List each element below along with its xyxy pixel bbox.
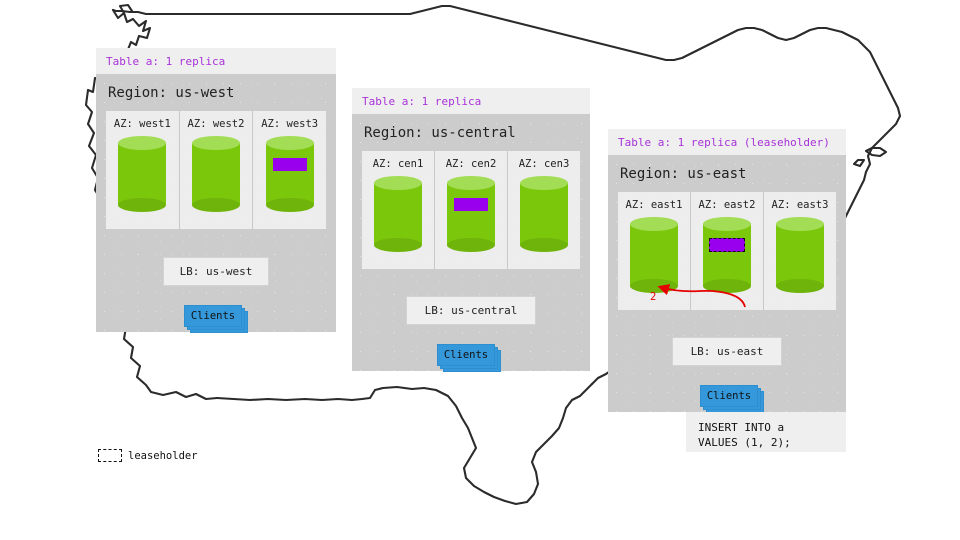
- az-cell-cen3[interactable]: AZ: cen3: [508, 151, 580, 269]
- region-body-us-west: Region: us-west AZ: west1 AZ: west2: [96, 74, 336, 332]
- cylinder-top: [266, 136, 314, 150]
- cylinder-body: [630, 224, 678, 286]
- dashed-rect-icon: [98, 449, 122, 462]
- region-body-us-central: Region: us-central AZ: cen1 AZ: cen2: [352, 114, 590, 371]
- cylinder-bottom: [192, 198, 240, 212]
- node-cylinder-west1[interactable]: [118, 136, 166, 212]
- load-balancer-us-central[interactable]: LB: us-central: [406, 296, 536, 325]
- cylinder-top: [447, 176, 495, 190]
- node-cylinder-east1[interactable]: [630, 217, 678, 293]
- az-row-us-west: AZ: west1 AZ: west2: [106, 111, 326, 229]
- az-label-east2: AZ: east2: [697, 199, 757, 211]
- region-title-us-west: Region: us-west: [108, 85, 326, 101]
- cylinder-body: [374, 183, 422, 245]
- az-label-west3: AZ: west3: [259, 118, 320, 130]
- region-header-us-central: Table a: 1 replica: [352, 88, 590, 114]
- clients-button-label[interactable]: Clients: [700, 385, 758, 407]
- cylinder-bottom: [776, 279, 824, 293]
- node-cylinder-cen2[interactable]: [447, 176, 495, 252]
- region-header-us-east: Table a: 1 replica (leaseholder): [608, 129, 846, 155]
- region-title-us-central: Region: us-central: [364, 125, 580, 141]
- cylinder-body: [447, 183, 495, 245]
- clients-button-label[interactable]: Clients: [184, 305, 242, 327]
- az-cell-east2[interactable]: AZ: east2: [691, 192, 764, 310]
- cylinder-body: [118, 143, 166, 205]
- load-balancer-us-west[interactable]: LB: us-west: [163, 257, 269, 286]
- cylinder-body: [703, 224, 751, 286]
- cylinder-top: [776, 217, 824, 231]
- cylinder-top: [703, 217, 751, 231]
- az-label-east1: AZ: east1: [624, 199, 684, 211]
- node-cylinder-cen1[interactable]: [374, 176, 422, 252]
- az-cell-west3[interactable]: AZ: west3: [253, 111, 326, 229]
- load-balancer-us-east[interactable]: LB: us-east: [672, 337, 782, 366]
- sql-statement-box: INSERT INTO a VALUES (1, 2);: [686, 412, 846, 452]
- clients-button-label[interactable]: Clients: [437, 344, 495, 366]
- cylinder-body: [266, 143, 314, 205]
- clients-us-west[interactable]: Clients: [184, 305, 242, 327]
- node-cylinder-east3[interactable]: [776, 217, 824, 293]
- legend-label: leaseholder: [128, 450, 198, 462]
- region-title-us-east: Region: us-east: [620, 166, 836, 182]
- cylinder-top: [118, 136, 166, 150]
- replica-marker-cen2[interactable]: [454, 198, 488, 211]
- clients-us-central[interactable]: Clients: [437, 344, 495, 366]
- region-panel-us-east: Table a: 1 replica (leaseholder) Region:…: [608, 129, 846, 412]
- cylinder-body: [192, 143, 240, 205]
- node-cylinder-west3[interactable]: [266, 136, 314, 212]
- legend-leaseholder: leaseholder: [98, 449, 198, 462]
- cylinder-top: [520, 176, 568, 190]
- region-body-us-east: Region: us-east AZ: east1 AZ: east2: [608, 155, 846, 412]
- region-panel-us-west: Table a: 1 replica Region: us-west AZ: w…: [96, 48, 336, 332]
- cylinder-bottom: [520, 238, 568, 252]
- cylinder-top: [630, 217, 678, 231]
- node-cylinder-east2[interactable]: [703, 217, 751, 293]
- cylinder-top: [192, 136, 240, 150]
- diagram-canvas: Table a: 1 replica Region: us-west AZ: w…: [0, 0, 960, 540]
- cylinder-bottom: [447, 238, 495, 252]
- cylinder-bottom: [374, 238, 422, 252]
- az-label-east3: AZ: east3: [770, 199, 830, 211]
- cylinder-bottom: [118, 198, 166, 212]
- cylinder-body: [520, 183, 568, 245]
- annotation-step-label: 2: [650, 291, 656, 303]
- az-cell-west2[interactable]: AZ: west2: [180, 111, 254, 229]
- az-cell-cen1[interactable]: AZ: cen1: [362, 151, 435, 269]
- cylinder-top: [374, 176, 422, 190]
- az-row-us-central: AZ: cen1 AZ: cen2: [362, 151, 580, 269]
- cylinder-bottom: [266, 198, 314, 212]
- az-label-cen2: AZ: cen2: [441, 158, 501, 170]
- replica-marker-east2-leaseholder[interactable]: [709, 238, 745, 252]
- region-panel-us-central: Table a: 1 replica Region: us-central AZ…: [352, 88, 590, 371]
- az-cell-cen2[interactable]: AZ: cen2: [435, 151, 508, 269]
- az-label-cen1: AZ: cen1: [368, 158, 428, 170]
- replica-marker-west3[interactable]: [273, 158, 307, 171]
- az-cell-west1[interactable]: AZ: west1: [106, 111, 180, 229]
- cylinder-bottom: [703, 279, 751, 293]
- cylinder-body: [776, 224, 824, 286]
- node-cylinder-cen3[interactable]: [520, 176, 568, 252]
- az-label-west1: AZ: west1: [112, 118, 173, 130]
- region-header-us-west: Table a: 1 replica: [96, 48, 336, 74]
- az-label-west2: AZ: west2: [186, 118, 247, 130]
- clients-us-east[interactable]: Clients: [700, 385, 758, 407]
- node-cylinder-west2[interactable]: [192, 136, 240, 212]
- az-label-cen3: AZ: cen3: [514, 158, 574, 170]
- az-cell-east3[interactable]: AZ: east3: [764, 192, 836, 310]
